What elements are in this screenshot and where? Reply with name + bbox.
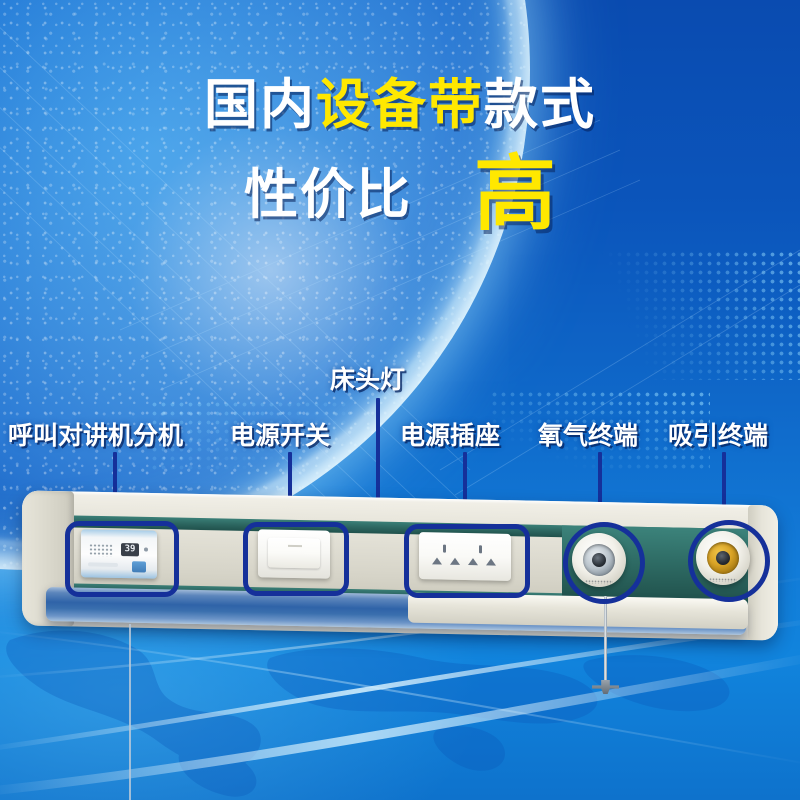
headline-part-3: 款式 xyxy=(484,73,596,136)
callout-label-intercom: 呼叫对讲机分机 xyxy=(8,416,183,452)
headline-subtext: 性价比 xyxy=(244,168,412,222)
callout-label-bed-lamp: 床头灯 xyxy=(330,360,405,396)
headline-line-2: 性价比 高 xyxy=(0,154,800,236)
headline-part-2: 设备带 xyxy=(316,73,484,136)
headline-block: 国内设备带款式 性价比 高 xyxy=(0,78,800,236)
highlight-power-switch xyxy=(243,522,349,596)
callout-label-oxygen: 氧气终端 xyxy=(538,416,638,452)
highlight-suction xyxy=(688,520,770,602)
pull-cord[interactable] xyxy=(604,596,607,684)
headline-line-1: 国内设备带款式 xyxy=(0,78,800,132)
callout-label-power-socket: 电源插座 xyxy=(400,416,500,452)
callout-label-suction: 吸引终端 xyxy=(668,416,768,452)
headline-part-1: 国内 xyxy=(204,73,316,136)
secondary-cord xyxy=(129,624,131,800)
poster-canvas: 国内设备带款式 性价比 高 呼叫对讲机分机 电源开关 床头灯 电源插座 氧气终端… xyxy=(0,0,800,800)
headline-accent-char: 高 xyxy=(474,154,556,236)
halftone-dots-right xyxy=(570,250,800,380)
highlight-intercom xyxy=(65,521,179,597)
callout-label-power-switch: 电源开关 xyxy=(230,416,330,452)
highlight-power-socket xyxy=(404,524,530,598)
highlight-oxygen xyxy=(563,522,645,604)
